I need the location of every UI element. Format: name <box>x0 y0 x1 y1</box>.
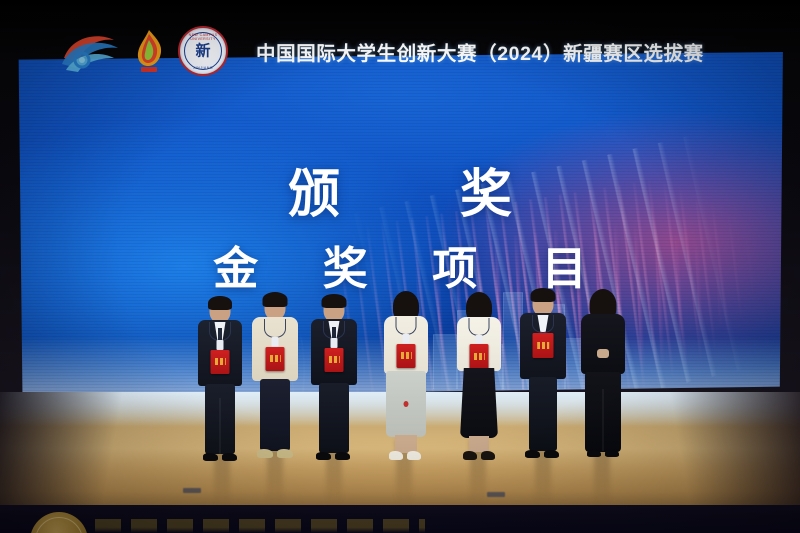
lanyard <box>323 321 345 339</box>
person-top <box>581 314 625 374</box>
person-hair <box>263 292 288 307</box>
black-skirt <box>460 368 498 438</box>
lanyard <box>209 322 231 341</box>
person-shoe <box>277 449 293 458</box>
person-shoe <box>389 451 403 460</box>
trouser-seam <box>602 389 604 451</box>
award-recipient-5 <box>453 296 505 463</box>
lanyard <box>532 315 554 333</box>
id-badge <box>331 338 338 348</box>
clasped-hands <box>597 349 609 358</box>
sub-title-gold-award-projects: 金 奖 项 目 <box>0 232 800 297</box>
award-recipient-6 <box>518 291 568 463</box>
award-certificate <box>470 344 489 369</box>
award-recipient-4 <box>380 295 432 463</box>
person-shoe <box>605 450 619 457</box>
award-certificate <box>533 333 554 358</box>
person-shoe <box>316 452 331 460</box>
event-title: 中国国际大学生创新大赛（2024）新疆赛区选拔赛 <box>256 37 704 66</box>
apron-banner-text <box>95 519 425 533</box>
floor-marker-left <box>183 488 201 493</box>
award-certificate <box>266 347 285 371</box>
ceremony-photo: NEW CAMPUS UNIVERSITY 新 XINJIANG 中国国际大学生… <box>0 0 800 533</box>
floor-marker-right <box>487 492 505 497</box>
person-trousers <box>319 383 349 453</box>
id-badge <box>403 334 410 344</box>
person-legs <box>469 436 489 452</box>
wave-logo-icon <box>58 28 120 74</box>
seal-bottom-text: XINJIANG <box>180 66 226 70</box>
id-badge <box>272 337 279 347</box>
skirt-patch <box>404 401 409 407</box>
person-hair <box>531 288 556 302</box>
led-header-row: NEW CAMPUS UNIVERSITY 新 XINJIANG 中国国际大学生… <box>58 26 704 76</box>
trouser-seam <box>219 398 221 454</box>
stage-shadow-left <box>0 392 150 510</box>
stage-shadow-right <box>640 392 800 510</box>
main-title-award: 颁 奖 <box>0 152 800 227</box>
award-certificate <box>211 350 230 374</box>
person-shoe <box>335 452 350 460</box>
staff-member <box>578 293 628 463</box>
university-seal-logo-icon: NEW CAMPUS UNIVERSITY 新 XINJIANG <box>178 26 228 76</box>
person-shoe <box>463 451 477 460</box>
person-shoe <box>257 449 273 458</box>
id-badge <box>217 340 224 350</box>
lanyard <box>264 319 286 338</box>
award-certificate <box>397 344 416 368</box>
person-shoe <box>525 450 540 458</box>
flame-logo-icon <box>134 28 164 74</box>
person-shoe <box>587 450 601 457</box>
award-recipient-2 <box>250 295 300 463</box>
person-shoe <box>544 450 559 458</box>
award-recipient-1 <box>196 298 244 463</box>
award-certificate <box>325 348 344 372</box>
person-trousers <box>260 379 290 451</box>
lanyard <box>396 317 417 335</box>
person-trousers <box>529 377 557 451</box>
person-hair <box>208 296 232 310</box>
person-shoe <box>203 453 218 461</box>
seal-center-glyph: 新 <box>195 44 210 59</box>
person-shoe <box>481 451 495 460</box>
person-shoe <box>407 451 421 460</box>
person-shoe <box>222 453 237 461</box>
person-hair <box>322 294 347 308</box>
seal-top-text: NEW CAMPUS UNIVERSITY <box>180 33 226 41</box>
award-recipient-3 <box>309 297 359 463</box>
lanyard <box>469 318 490 336</box>
